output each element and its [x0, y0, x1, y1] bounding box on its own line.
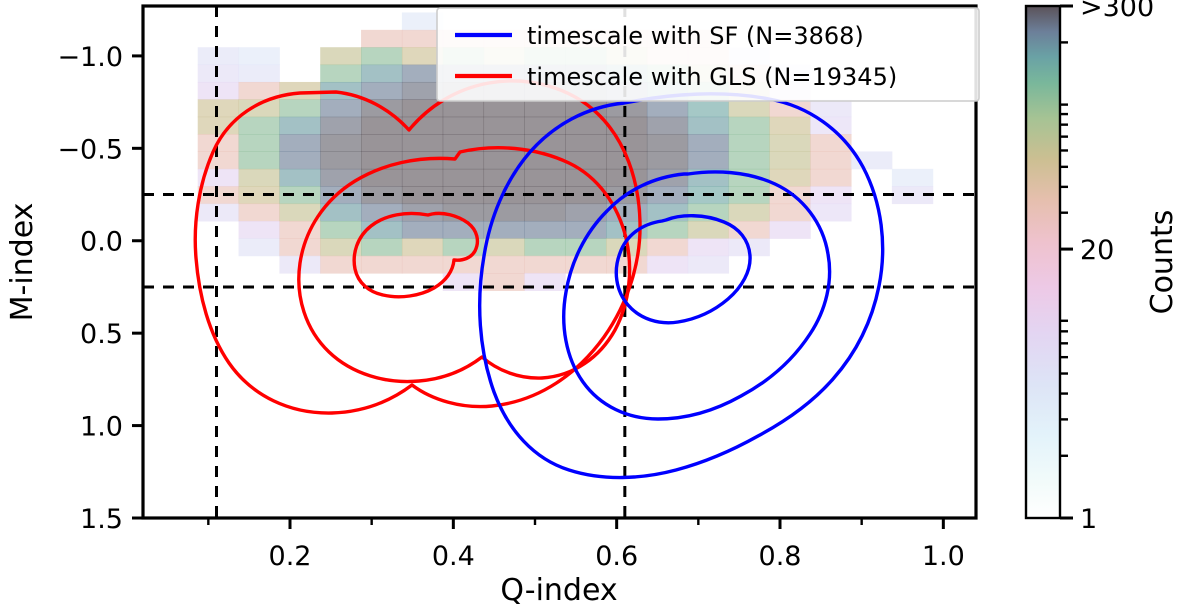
heatmap-cell	[198, 151, 239, 169]
heatmap-cell	[524, 238, 565, 256]
x-tick-label: 0.8	[759, 541, 802, 572]
heatmap-cell	[565, 238, 606, 256]
heatmap-cell	[484, 204, 525, 222]
heatmap-cell	[320, 99, 361, 117]
heatmap-cell	[239, 169, 280, 187]
heatmap-cell	[524, 169, 565, 187]
heatmap-cell	[361, 134, 402, 152]
colorbar-label: Counts	[1145, 210, 1180, 315]
heatmap-cell	[769, 117, 810, 135]
heatmap-cell	[688, 117, 729, 135]
heatmap-cell	[443, 99, 484, 117]
heatmap-cell	[239, 47, 280, 65]
y-tick-label: −0.5	[57, 134, 123, 165]
colorbar-tick-label: 1	[1080, 504, 1097, 535]
heatmap-cell	[484, 169, 525, 187]
legend-label-sf: timescale with SF (N=3868)	[527, 22, 864, 50]
heatmap-cell	[402, 169, 443, 187]
heatmap-cell	[729, 117, 770, 135]
heatmap-cell	[729, 204, 770, 222]
heatmap-cell	[443, 169, 484, 187]
figure-container: 0.20.40.60.81.0−1.0−0.50.00.51.01.5 Q-in…	[0, 0, 1200, 611]
heatmap-cell	[361, 238, 402, 256]
heatmap-cell	[524, 256, 565, 274]
y-tick-label: −1.0	[57, 42, 123, 73]
heatmap-cell	[402, 117, 443, 135]
heatmap-cell	[565, 151, 606, 169]
heatmap-cell	[198, 65, 239, 83]
heatmap-cell	[361, 47, 402, 65]
heatmap-cell	[810, 99, 851, 117]
legend: timescale with SF (N=3868) timescale wit…	[437, 8, 979, 101]
heatmap-cell	[892, 169, 933, 187]
heatmap-cell	[647, 238, 688, 256]
heatmap-cell	[769, 221, 810, 239]
x-axis-label: Q-index	[500, 573, 617, 608]
heatmap-cell	[647, 151, 688, 169]
heatmap-cell	[647, 134, 688, 152]
heatmap-cell	[647, 99, 688, 117]
heatmap-cell	[239, 204, 280, 222]
heatmap-cell	[361, 65, 402, 83]
colorbar-gradient	[1026, 6, 1060, 518]
x-tick-label: 0.2	[269, 541, 312, 572]
y-tick-label: 0.0	[80, 227, 123, 258]
heatmap-cell	[239, 65, 280, 83]
heatmap-cell	[647, 256, 688, 274]
y-tick-label: 1.5	[80, 504, 123, 535]
heatmap-cell	[606, 134, 647, 152]
heatmap-cell	[443, 151, 484, 169]
heatmap-cell	[320, 169, 361, 187]
heatmap-cell	[688, 99, 729, 117]
heatmap-cell	[688, 134, 729, 152]
heatmap-cell	[402, 221, 443, 239]
heatmap-cell	[688, 238, 729, 256]
heatmap-cell	[769, 151, 810, 169]
x-tick-label: 1.0	[922, 541, 965, 572]
heatmap-cell	[361, 169, 402, 187]
heatmap-cell	[239, 238, 280, 256]
heatmap-cell	[279, 238, 320, 256]
heatmap-cell	[198, 204, 239, 222]
heatmap-cell	[320, 117, 361, 135]
heatmap-cell	[769, 134, 810, 152]
y-tick-label: 1.0	[80, 412, 123, 443]
heatmap-cell	[320, 221, 361, 239]
heatmap-cell	[361, 30, 402, 48]
heatmap-cell	[279, 151, 320, 169]
heatmap-cell	[524, 221, 565, 239]
heatmap-cell	[361, 82, 402, 100]
scatter-density-plot: 0.20.40.60.81.0−1.0−0.50.00.51.01.5 Q-in…	[0, 0, 1200, 611]
x-tick-label: 0.6	[595, 541, 638, 572]
heatmap-cell	[279, 99, 320, 117]
colorbar: 120>300 Counts	[1026, 0, 1180, 535]
heatmap-cell	[198, 82, 239, 100]
heatmap-cell	[524, 204, 565, 222]
y-tick-label: 0.5	[80, 319, 123, 350]
heatmap-cell	[524, 99, 565, 117]
heatmap-cell	[484, 256, 525, 274]
heatmap-cell	[484, 99, 525, 117]
heatmap-cell	[320, 65, 361, 83]
heatmap-cell	[688, 256, 729, 274]
heatmap-cell	[320, 47, 361, 65]
heatmap-cell	[279, 169, 320, 187]
heatmap-cell	[239, 134, 280, 152]
colorbar-tick-label: >300	[1080, 0, 1154, 23]
heatmap-cell	[402, 256, 443, 274]
heatmap-cell	[647, 117, 688, 135]
legend-label-gls: timescale with GLS (N=19345)	[527, 63, 897, 91]
heatmap-cell	[729, 99, 770, 117]
heatmap-cell	[361, 256, 402, 274]
heatmap-cell	[688, 221, 729, 239]
heatmap-cell	[565, 134, 606, 152]
heatmap-cell	[484, 238, 525, 256]
heatmap-cell	[810, 169, 851, 187]
heatmap-cell	[402, 134, 443, 152]
heatmap-cell	[606, 256, 647, 274]
x-tick-label: 0.4	[432, 541, 475, 572]
heatmap-cell	[443, 117, 484, 135]
heatmap-cell	[402, 238, 443, 256]
heatmap-cell	[279, 134, 320, 152]
heatmap-cell	[729, 151, 770, 169]
heatmap-cell	[810, 151, 851, 169]
heatmap-cell	[239, 221, 280, 239]
heatmap-cell	[320, 134, 361, 152]
heatmap-cell	[239, 151, 280, 169]
heatmap-cell	[198, 99, 239, 117]
heatmap-cell	[198, 117, 239, 135]
y-axis-label: M-index	[5, 203, 40, 322]
heatmap-cell	[320, 151, 361, 169]
colorbar-tick-label: 20	[1080, 235, 1114, 266]
colorbar-ticks	[1060, 6, 1073, 518]
heatmap-cell	[688, 151, 729, 169]
heatmap-cell	[239, 117, 280, 135]
heatmap-cell	[279, 117, 320, 135]
heatmap-cell	[198, 47, 239, 65]
heatmap-cell	[729, 134, 770, 152]
colorbar-tick-labels: 120>300	[1080, 0, 1154, 535]
heatmap-cell	[484, 117, 525, 135]
